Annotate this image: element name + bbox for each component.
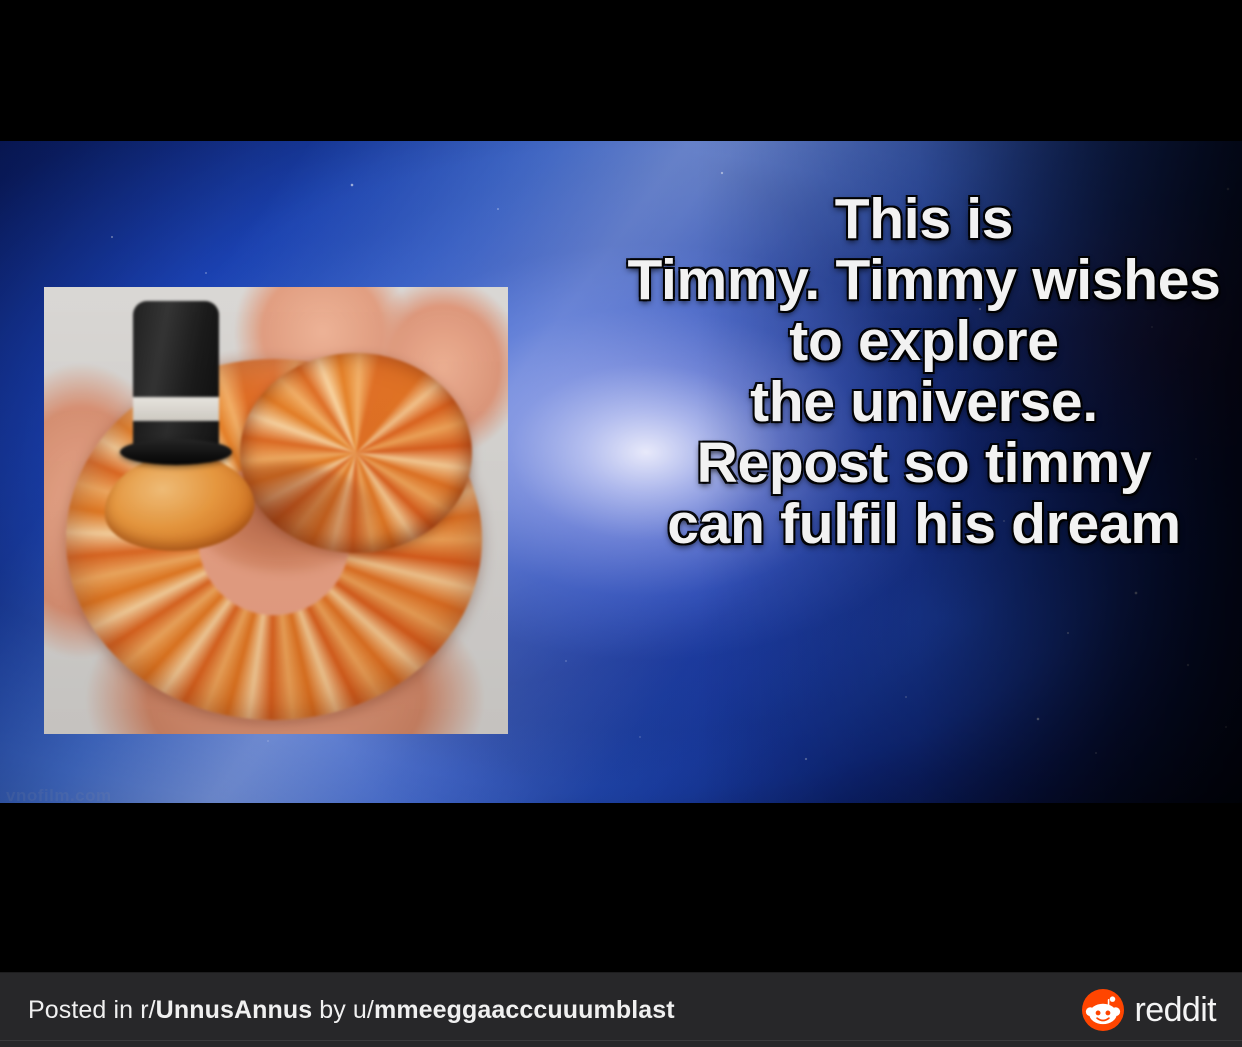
credit-username[interactable]: mmeeggaacccuuumblast (374, 996, 675, 1024)
caption-line-6: can fulfil his dream (600, 494, 1242, 555)
post-media-frame[interactable]: vnofilm.com This is Timmy. Timmy wishes … (0, 0, 1242, 972)
caption-line-4: the universe. (600, 372, 1242, 433)
reddit-snoo-icon (1082, 989, 1124, 1031)
caption-line-3: to explore (600, 311, 1242, 372)
credit-subreddit-name[interactable]: UnnusAnnus (156, 996, 313, 1024)
caption-line-1: This is (600, 189, 1242, 250)
reddit-attribution-bar: Posted in r/UnnusAnnus by u/mmeeggaacccu… (0, 972, 1242, 1047)
reddit-brand[interactable]: reddit (1082, 989, 1216, 1031)
letterbox-bar-top (0, 0, 1242, 141)
caption-line-2: Timmy. Timmy wishes (600, 250, 1242, 311)
top-hat-icon (120, 301, 232, 471)
top-hat-band (133, 397, 219, 423)
snake-in-top-hat-photo (44, 287, 508, 734)
top-hat-brim (120, 439, 232, 465)
credit-connector: by (312, 996, 353, 1024)
letterbox-bar-bottom (0, 803, 1242, 972)
meme-image[interactable]: vnofilm.com This is Timmy. Timmy wishes … (0, 141, 1242, 803)
post-credit-text: Posted in r/UnnusAnnus by u/mmeeggaacccu… (28, 996, 675, 1025)
caption-line-5: Repost so timmy (600, 433, 1242, 494)
reddit-wordmark: reddit (1135, 993, 1216, 1027)
credit-user-prefix: u/ (353, 996, 374, 1024)
credit-subreddit-prefix: r/ (140, 996, 155, 1024)
credit-prefix: Posted in (28, 996, 140, 1024)
meme-caption: This is Timmy. Timmy wishes to explore t… (600, 189, 1242, 555)
source-watermark: vnofilm.com (6, 786, 112, 803)
footer-hairline (0, 1040, 1242, 1041)
